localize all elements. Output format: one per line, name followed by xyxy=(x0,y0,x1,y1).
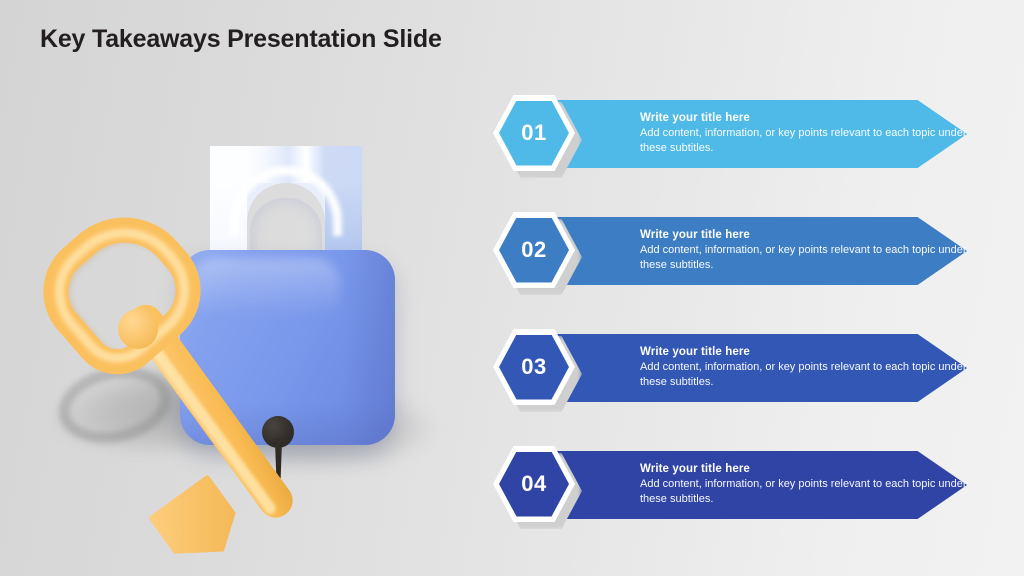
takeaway-list: 01 Write your title here Add content, in… xyxy=(492,92,992,527)
list-item[interactable]: 04 Write your title here Add content, in… xyxy=(492,443,992,527)
takeaway-text: Write your title here Add content, infor… xyxy=(640,111,970,155)
list-item[interactable]: 03 Write your title here Add content, in… xyxy=(492,326,992,410)
list-item[interactable]: 02 Write your title here Add content, in… xyxy=(492,209,992,293)
takeaway-text: Write your title here Add content, infor… xyxy=(640,228,970,272)
status-badge: 03 xyxy=(521,354,546,380)
list-item[interactable]: 01 Write your title here Add content, in… xyxy=(492,92,992,176)
takeaway-body: Add content, information, or key points … xyxy=(640,243,970,272)
padlock-and-key-illustration xyxy=(40,120,460,500)
takeaway-title: Write your title here xyxy=(640,228,970,243)
takeaway-body: Add content, information, or key points … xyxy=(640,477,970,506)
takeaway-title: Write your title here xyxy=(640,345,970,360)
takeaway-title: Write your title here xyxy=(640,111,970,126)
key-icon xyxy=(40,210,360,500)
status-badge: 01 xyxy=(521,120,546,146)
takeaway-body: Add content, information, or key points … xyxy=(640,126,970,155)
page-title: Key Takeaways Presentation Slide xyxy=(40,25,442,54)
status-badge: 04 xyxy=(521,471,546,497)
status-badge: 02 xyxy=(521,237,546,263)
takeaway-title: Write your title here xyxy=(640,462,970,477)
takeaway-body: Add content, information, or key points … xyxy=(640,360,970,389)
takeaway-text: Write your title here Add content, infor… xyxy=(640,462,970,506)
takeaway-text: Write your title here Add content, infor… xyxy=(640,345,970,389)
